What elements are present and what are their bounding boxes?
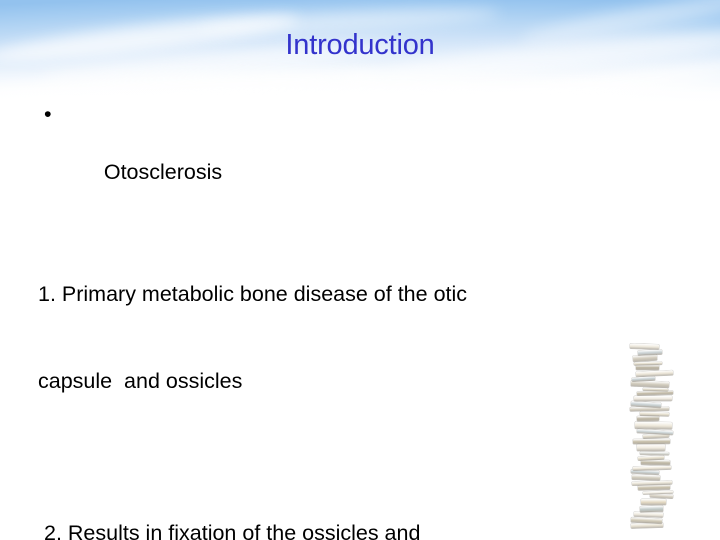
numbered-item-2-line1: 2. Results in fixation of the ossicles a… (38, 519, 658, 540)
book-in-stack (637, 429, 673, 435)
book-in-stack (640, 505, 663, 512)
numbered-item-1-line1: 1. Primary metabolic bone disease of the… (38, 280, 658, 309)
book-in-stack (632, 376, 655, 381)
book-in-stack (640, 411, 669, 416)
book-in-stack (641, 499, 666, 505)
book-in-stack (632, 480, 672, 485)
numbered-item-1-line2: capsule and ossicles (38, 367, 658, 396)
bullet-item-label: Otosclerosis (104, 160, 222, 184)
book-in-stack (637, 416, 659, 421)
stack-of-books-image (630, 347, 674, 529)
book-in-stack (632, 475, 660, 481)
book-in-stack (634, 361, 662, 365)
numbered-item-2: 2. Results in fixation of the ossicles a… (38, 461, 658, 540)
book-in-stack (637, 444, 665, 451)
book-in-stack (638, 349, 662, 355)
book-in-stack (630, 344, 659, 350)
bullet-item-otosclerosis: • Otosclerosis (38, 100, 658, 216)
slide-title: Introduction (0, 28, 720, 62)
book-in-stack (640, 452, 669, 456)
book-in-stack (634, 396, 672, 401)
book-in-stack (636, 370, 673, 377)
book-in-stack (633, 354, 657, 361)
book-in-stack (631, 523, 663, 529)
book-in-stack (636, 365, 659, 370)
book-in-stack (641, 460, 670, 466)
book-in-stack (630, 407, 669, 412)
presentation-slide: Introduction • Otosclerosis 1. Primary m… (0, 0, 720, 540)
book-in-stack (633, 465, 671, 470)
book-in-stack (633, 439, 670, 444)
numbered-item-1: 1. Primary metabolic bone disease of the… (38, 222, 658, 454)
book-in-stack (643, 387, 668, 391)
book-in-stack (638, 455, 664, 460)
book-in-stack (631, 380, 669, 388)
book-in-stack (631, 517, 662, 523)
book-in-stack (635, 422, 672, 430)
slide-body: • Otosclerosis 1. Primary metabolic bone… (38, 100, 658, 540)
bullet-dot-icon: • (44, 100, 52, 129)
